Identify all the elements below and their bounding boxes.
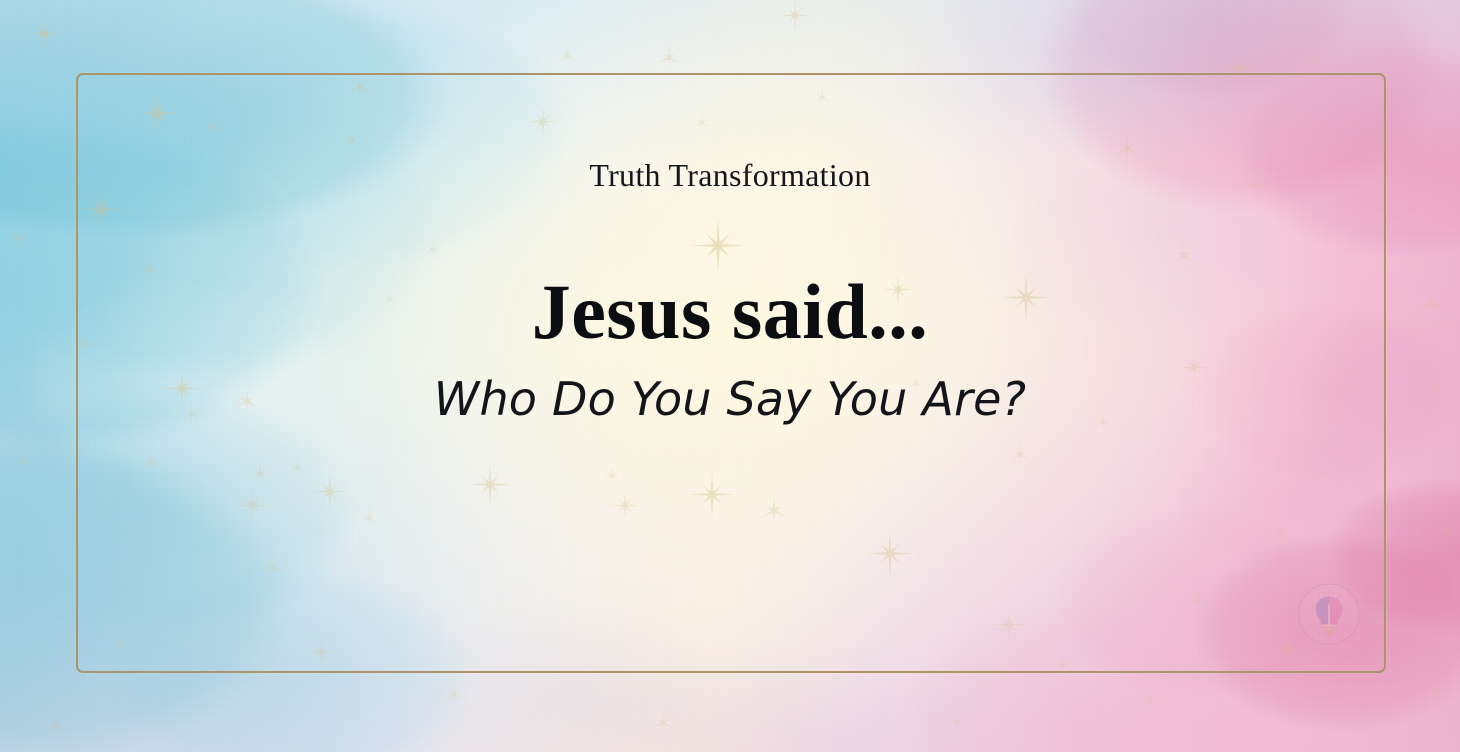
slide-eyebrow-text: Truth Transformation <box>589 158 870 193</box>
slide-headline-text: Jesus said... <box>532 273 929 351</box>
slide-text-block: Truth Transformation Jesus said... Who D… <box>0 0 1460 752</box>
logo-svg <box>1296 581 1362 647</box>
lightbulb-brain-icon <box>1296 581 1362 647</box>
slide-subheadline-text: Who Do You Say You Are? <box>434 374 1026 425</box>
slide-canvas: Truth Transformation Jesus said... Who D… <box>0 0 1460 752</box>
